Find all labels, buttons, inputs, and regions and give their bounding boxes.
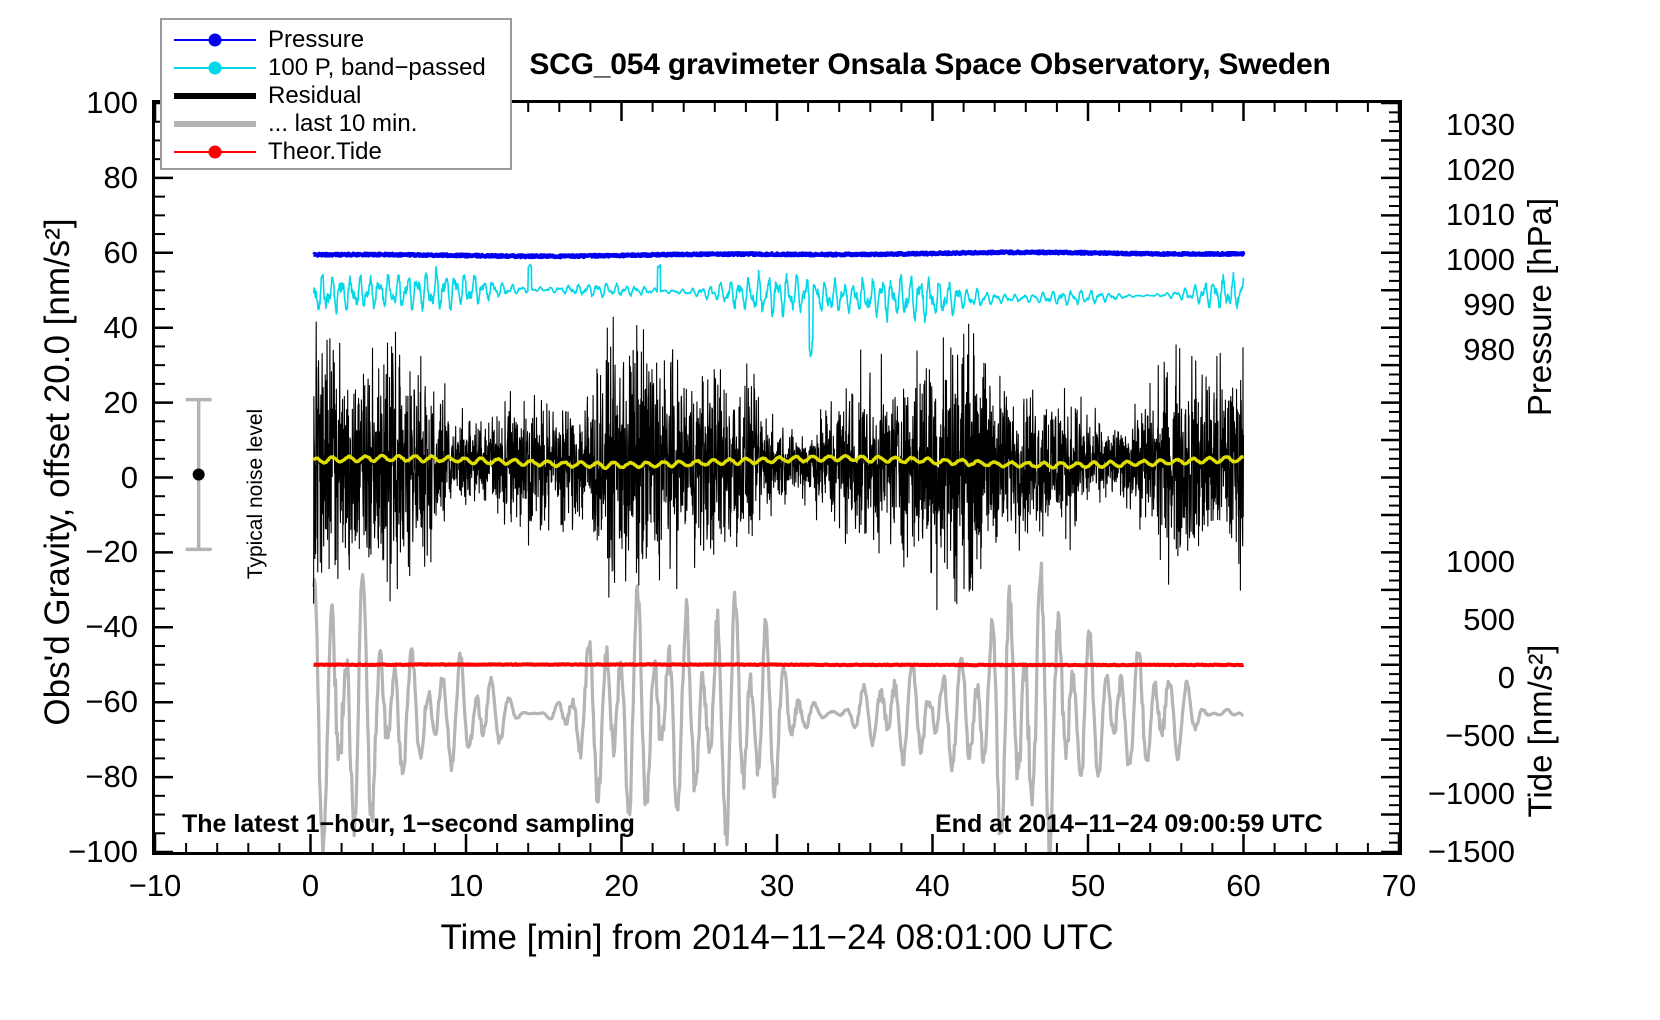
axis-tick-label: 1000 <box>1420 546 1515 577</box>
axis-tick-label: −40 <box>20 611 138 642</box>
axis-tick-label: 60 <box>1184 870 1304 901</box>
axis-tick-label: 40 <box>873 870 993 901</box>
plot-area <box>152 100 1402 855</box>
axis-tick-label: 980 <box>1420 334 1515 365</box>
axis-tick-label: −60 <box>20 686 138 717</box>
legend-swatch-pressure <box>174 29 256 51</box>
axis-tick-label: 1010 <box>1420 199 1515 230</box>
axis-tick-label: 10 <box>406 870 526 901</box>
axis-tick-label: 60 <box>20 237 138 268</box>
legend-item: 100 P, band−passed <box>174 54 510 82</box>
axis-tick-label: 0 <box>1420 662 1515 693</box>
axis-tick-label: 1000 <box>1420 244 1515 275</box>
axis-tick-label: 80 <box>20 162 138 193</box>
y-axis-right-top-title: Pressure [hPa] <box>1521 92 1559 522</box>
typical-noise-level-label: Typical noise level <box>244 384 268 604</box>
axis-tick-label: 100 <box>20 87 138 118</box>
legend-swatch-theortide <box>174 141 256 163</box>
legend-label-residual: Residual <box>268 82 361 110</box>
legend-label-bandpassed: 100 P, band−passed <box>268 54 486 82</box>
legend-label-theortide: Theor.Tide <box>268 138 382 166</box>
axis-tick-label: 50 <box>1028 870 1148 901</box>
axis-tick-label: −1500 <box>1420 836 1515 867</box>
annotation-sampling: The latest 1−hour, 1−second sampling <box>182 810 635 839</box>
legend: Pressure 100 P, band−passed Residual ...… <box>160 18 512 170</box>
legend-label-last10min: ... last 10 min. <box>268 110 417 138</box>
annotation-end-time: End at 2014−11−24 09:00:59 UTC <box>935 810 1323 839</box>
axis-tick-label: −100 <box>20 836 138 867</box>
axis-tick-label: 20 <box>20 387 138 418</box>
axis-tick-label: 40 <box>20 312 138 343</box>
axis-tick-label: 30 <box>717 870 837 901</box>
axis-tick-label: 0 <box>251 870 371 901</box>
legend-item: Residual <box>174 82 510 110</box>
chart-root: SCG_054 gravimeter Onsala Space Observat… <box>0 0 1660 1020</box>
legend-swatch-residual <box>174 85 256 107</box>
legend-label-pressure: Pressure <box>268 26 364 54</box>
x-axis-title: Time [min] from 2014−11−24 08:01:00 UTC <box>152 918 1402 958</box>
axis-tick-label: 70 <box>1339 870 1459 901</box>
axis-tick-label: −20 <box>20 536 138 567</box>
axis-tick-label: 0 <box>20 462 138 493</box>
legend-item: ... last 10 min. <box>174 110 510 138</box>
axis-tick-label: 1030 <box>1420 109 1515 140</box>
legend-item: Pressure <box>174 26 510 54</box>
axis-tick-label: −1000 <box>1420 778 1515 809</box>
legend-swatch-last10min <box>174 113 256 135</box>
axis-tick-label: −10 <box>95 870 215 901</box>
axis-tick-label: 500 <box>1420 604 1515 635</box>
axis-tick-label: 1020 <box>1420 154 1515 185</box>
axis-tick-label: 20 <box>562 870 682 901</box>
plot-canvas <box>155 103 1399 852</box>
axis-tick-label: −500 <box>1420 720 1515 751</box>
axis-tick-label: −80 <box>20 761 138 792</box>
legend-swatch-bandpassed <box>174 57 256 79</box>
legend-item: Theor.Tide <box>174 138 510 166</box>
axis-tick-label: 990 <box>1420 289 1515 320</box>
chart-title: SCG_054 gravimeter Onsala Space Observat… <box>430 48 1430 82</box>
y-axis-right-bottom-title: Tide [nm/s²] <box>1522 559 1560 904</box>
